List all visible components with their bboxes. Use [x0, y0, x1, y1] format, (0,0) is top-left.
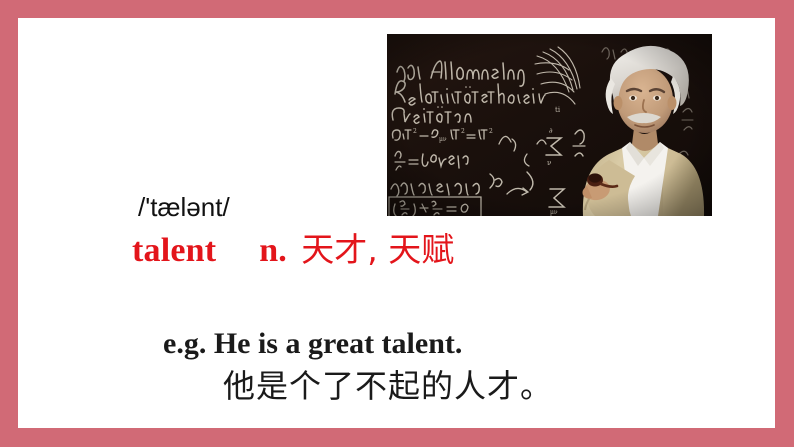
- phonetic-transcription: /'tælənt/: [138, 194, 230, 220]
- headword: talent: [132, 232, 216, 269]
- headword-line: talent n. 天才, 天赋: [132, 233, 454, 268]
- example-sentence-chinese: 他是个了不起的人才。: [223, 370, 553, 402]
- example-sentence-english: e.g. He is a great talent.: [163, 329, 462, 359]
- chinese-translation: 天才, 天赋: [295, 230, 454, 269]
- slide: 2 µν 2 2: [0, 0, 794, 447]
- slide-content-area: 2 µν 2 2: [18, 18, 775, 428]
- part-of-speech: n.: [259, 232, 286, 269]
- einstein-photo: 2 µν 2 2: [387, 34, 712, 216]
- einstein-photo-illustration: 2 µν 2 2: [387, 34, 712, 216]
